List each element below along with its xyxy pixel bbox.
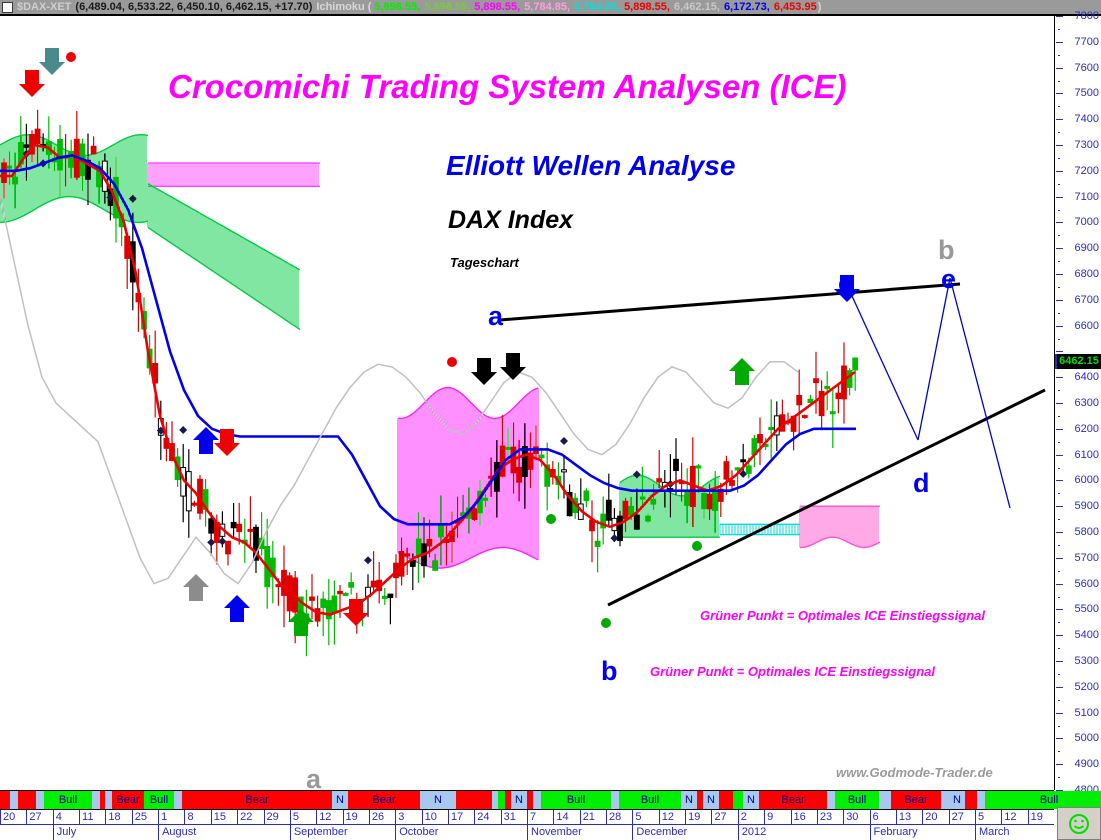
price-tick-label-6200: 6200 [1055, 423, 1101, 435]
candle-body [640, 497, 645, 499]
smiley-face-icon[interactable] [1057, 807, 1101, 840]
date-tick-30: 30 [843, 810, 869, 824]
candle-body [539, 455, 544, 458]
candle-body [433, 561, 438, 571]
trend-segment-neutral[interactable] [977, 791, 985, 809]
indicator-value-6: 6,462.15, [674, 1, 723, 13]
candle-body [35, 129, 40, 143]
signal-buy-dot-14 [692, 541, 702, 551]
date-tick-11: 11 [79, 810, 105, 824]
wave-label-b-2: b [601, 656, 618, 687]
date-tick-17: 17 [448, 810, 474, 824]
price-minor-tick [1058, 597, 1060, 598]
price-tick-label-5600: 5600 [1055, 578, 1101, 590]
candle-body [427, 539, 432, 545]
trend-segment-neutral[interactable] [174, 791, 182, 809]
date-tick-1: 1 [158, 810, 184, 824]
trend-segment-neutral[interactable] [879, 791, 891, 809]
date-tick-20: 20 [922, 810, 948, 824]
candle-body [595, 541, 600, 546]
price-tick-label-7700: 7700 [1055, 36, 1101, 48]
wave-label-d-5: d [913, 468, 930, 499]
subtitle-index: DAX Index [448, 206, 573, 235]
price-minor-tick [1058, 674, 1060, 675]
candle-body [2, 163, 7, 183]
date-tick-19: 19 [685, 810, 711, 824]
trend-segment-neutral[interactable] [533, 791, 541, 809]
date-tick-10: 10 [422, 810, 448, 824]
candle-body [506, 448, 511, 450]
date-tick-27: 27 [949, 810, 975, 824]
candle-body [802, 416, 807, 418]
symbol-label: $DAX-XET [17, 1, 71, 13]
month-label-March: March [975, 825, 1054, 840]
candle-body [797, 395, 802, 404]
wave-label-a-0: a [488, 301, 503, 332]
price-tick-label-6000: 6000 [1055, 474, 1101, 486]
date-tick-5: 5 [290, 810, 316, 824]
candle-body [343, 593, 348, 595]
price-minor-tick [1058, 261, 1060, 262]
signal-sell-arrow-0 [19, 70, 45, 97]
candle-body [853, 358, 858, 370]
candle-body [730, 481, 735, 486]
candle-body [808, 399, 813, 402]
date-tick-29: 29 [264, 810, 290, 824]
candle-body [282, 570, 287, 595]
paren-close: ) [818, 1, 822, 13]
candle-body [746, 466, 751, 473]
price-tick-label-6700: 6700 [1055, 294, 1101, 306]
price-chart-canvas[interactable]: Crocomichi Trading System Analysen (ICE)… [0, 16, 1055, 790]
candle-body [646, 516, 651, 521]
price-minor-tick [1058, 184, 1060, 185]
trend-segment-bull[interactable]: Bull [44, 791, 92, 809]
trend-segment-bull[interactable]: Bull [835, 791, 879, 809]
indicator-value-5: 5,898.55, [624, 1, 673, 13]
date-tick-15: 15 [211, 810, 237, 824]
candle-body [405, 554, 410, 556]
price-tick-label-4900: 4900 [1055, 758, 1101, 770]
paren-open: ( [368, 1, 372, 13]
indicator-value-0: 5,898.55, [374, 1, 423, 13]
candle-body [186, 472, 191, 511]
date-tick-18: 18 [105, 810, 131, 824]
month-label-November: November [527, 825, 632, 840]
current-price-marker: 6462.15 [1055, 354, 1101, 369]
candle-body [618, 516, 623, 540]
price-minor-tick [1058, 55, 1060, 56]
month-label-2012: 2012 [738, 825, 870, 840]
signal-buy-arrow-5 [183, 574, 209, 601]
trend-segment-bear[interactable]: Bear [759, 791, 827, 809]
candle-body [321, 599, 326, 607]
date-tick-12: 12 [316, 810, 342, 824]
candle-body [13, 177, 18, 184]
candle-body [338, 591, 343, 593]
indicator-value-8: 6,453.95 [774, 1, 817, 13]
price-tick-label-7200: 7200 [1055, 165, 1101, 177]
watermark: www.Godmode-Trader.de [836, 765, 993, 780]
price-tick-label-5700: 5700 [1055, 552, 1101, 564]
price-tick-label-7500: 7500 [1055, 87, 1101, 99]
candle-body [209, 519, 214, 533]
candle-body [248, 529, 253, 531]
date-tick-21: 21 [580, 810, 606, 824]
candle-body [522, 446, 527, 476]
trend-segment-neutral[interactable]: N [332, 791, 348, 809]
indicator-value-2: 5,898.55, [474, 1, 523, 13]
candle-body [472, 509, 477, 520]
price-tick-label-5900: 5900 [1055, 500, 1101, 512]
date-tick-12: 12 [1001, 810, 1027, 824]
date-tick-2: 2 [738, 810, 764, 824]
date-tick-22: 22 [237, 810, 263, 824]
date-tick-4: 4 [53, 810, 79, 824]
signal-buy-arrow-7 [288, 609, 314, 636]
date-tick-25: 25 [132, 810, 158, 824]
candle-body [416, 539, 421, 556]
date-axis[interactable]: 2027411182518152229512192631017243171421… [0, 810, 1054, 840]
price-axis[interactable]: 7800770076007500740073007200710070006900… [1055, 16, 1101, 790]
price-minor-tick [1058, 442, 1060, 443]
trend-segment-neutral[interactable]: N [703, 791, 719, 809]
price-tick-label-6800: 6800 [1055, 268, 1101, 280]
date-tick-8: 8 [184, 810, 210, 824]
page-title: Crocomichi Trading System Analysen (ICE) [168, 68, 847, 106]
candle-body [192, 503, 197, 505]
candle-body [69, 151, 74, 167]
price-minor-tick [1058, 416, 1060, 417]
trend-segment-bear[interactable] [719, 791, 733, 809]
price-minor-tick [1058, 622, 1060, 623]
price-minor-tick [1058, 339, 1060, 340]
month-label-August: August [158, 825, 290, 840]
indicator-value-4: 5,784.85, [574, 1, 623, 13]
wave-label-a-1: a [306, 764, 321, 790]
candle-body [836, 393, 841, 399]
projection-d-to-e [918, 278, 950, 440]
candle-body [814, 379, 819, 383]
quote-header-bar[interactable]: $DAX-XET (6,489.04, 6,533.22, 6,450.10, … [0, 0, 1101, 14]
candle-body [58, 140, 63, 170]
trend-segment-bear[interactable] [18, 791, 36, 809]
price-minor-tick [1058, 390, 1060, 391]
candle-body [349, 583, 354, 588]
candle-body [674, 459, 679, 470]
trend-segment-neutral[interactable]: N [949, 791, 965, 809]
date-tick-31: 31 [501, 810, 527, 824]
date-tick-20: 20 [0, 810, 26, 824]
candle-body [91, 146, 96, 154]
trend-segment-bear[interactable]: Bear [182, 791, 332, 809]
price-tick-label-5500: 5500 [1055, 603, 1101, 615]
price-minor-tick [1058, 700, 1060, 701]
month-label-October: October [395, 825, 527, 840]
candle-body [483, 498, 488, 500]
subtitle-analysis: Elliott Wellen Analyse [446, 150, 735, 182]
signal-sell-arrow-4 [214, 429, 240, 456]
trend-segment-bear[interactable] [0, 791, 10, 809]
ohlc-values: (6,489.04, 6,533.22, 6,450.10, 6,462.15,… [75, 1, 312, 13]
candle-body [769, 428, 774, 430]
price-minor-tick [1058, 545, 1060, 546]
signal-sell-dot-9 [447, 357, 457, 367]
signal-sell-arrow-8 [343, 599, 369, 626]
price-tick-label-5200: 5200 [1055, 681, 1101, 693]
price-tick-label-6300: 6300 [1055, 397, 1101, 409]
indicator-value-1: 5,898.55, [424, 1, 473, 13]
price-minor-tick [1058, 751, 1060, 752]
price-minor-tick [1058, 519, 1060, 520]
candle-body [326, 601, 331, 619]
date-tick-24: 24 [474, 810, 500, 824]
date-tick-5: 5 [632, 810, 658, 824]
wave-label-c-4: c [838, 268, 853, 299]
price-minor-tick [1058, 648, 1060, 649]
trend-segment-neutral[interactable]: N [511, 791, 527, 809]
signal-buy-dot-15 [601, 618, 611, 628]
trend-segment-bull[interactable] [733, 791, 743, 809]
candle-body [24, 145, 29, 147]
trend-segment-neutral[interactable] [105, 791, 112, 809]
price-minor-tick [1058, 493, 1060, 494]
trend-segment-bear[interactable]: Bear [891, 791, 941, 809]
price-tick-label-7600: 7600 [1055, 62, 1101, 74]
price-tick-label-6900: 6900 [1055, 242, 1101, 254]
diamond-marker [560, 437, 568, 445]
subtitle-timeframe: Tageschart [450, 255, 519, 270]
price-tick-label-7000: 7000 [1055, 216, 1101, 228]
indicator-value-7: 6,172.73, [724, 1, 773, 13]
date-tick-27: 27 [711, 810, 737, 824]
price-minor-tick [1058, 571, 1060, 572]
indicator-value-3: 5,784.85, [524, 1, 573, 13]
price-minor-tick [1058, 106, 1060, 107]
trend-segment-bull[interactable]: Bull [144, 791, 174, 809]
trend-segment-bull[interactable] [498, 791, 505, 809]
price-tick-label-6600: 6600 [1055, 320, 1101, 332]
candle-body [634, 515, 639, 529]
diamond-marker [179, 426, 187, 434]
chart-application: $DAX-XET (6,489.04, 6,533.22, 6,450.10, … [0, 0, 1101, 840]
price-minor-tick [1058, 726, 1060, 727]
candle-body [713, 491, 718, 511]
trend-segment-bull[interactable]: Bull [619, 791, 681, 809]
candle-body [685, 492, 690, 505]
date-tick-6: 6 [870, 810, 896, 824]
candle-body [382, 596, 387, 598]
candle-body [606, 500, 611, 520]
signal-sell-arrow-1 [39, 48, 65, 75]
price-minor-tick [1058, 468, 1060, 469]
price-minor-tick [1058, 29, 1060, 30]
date-tick-3: 3 [395, 810, 421, 824]
price-tick-label-7100: 7100 [1055, 191, 1101, 203]
candle-body [702, 493, 707, 508]
signal-sell-arrow-11 [500, 353, 526, 380]
trend-segment-neutral[interactable] [611, 791, 619, 809]
month-label-July: July [53, 825, 158, 840]
price-minor-tick [1058, 132, 1060, 133]
candle-body [741, 460, 746, 462]
wave-label-e-6: e [941, 264, 956, 295]
trend-segment-neutral[interactable] [827, 791, 835, 809]
annotation-note-1: Grüner Punkt = Optimales ICE Einstiegssi… [700, 608, 985, 623]
date-tick-19: 19 [343, 810, 369, 824]
candle-body [657, 479, 662, 482]
date-tick-19: 19 [1028, 810, 1054, 824]
trend-segment-neutral[interactable] [36, 791, 44, 809]
month-label-December: December [632, 825, 737, 840]
signal-sell-dot-2 [66, 52, 76, 62]
candle-body [623, 501, 628, 519]
date-tick-7: 7 [527, 810, 553, 824]
candle-body [517, 467, 522, 482]
candle-body [237, 524, 242, 531]
date-tick-23: 23 [817, 810, 843, 824]
date-tick-9: 9 [764, 810, 790, 824]
trend-segment-bear[interactable] [456, 791, 492, 809]
price-tick-label-5400: 5400 [1055, 629, 1101, 641]
candle-body [438, 526, 443, 537]
candle-body [332, 596, 337, 613]
trend-status-strip[interactable]: BullBearBullBearNBearNNBullBullNNNBearBu… [0, 790, 1054, 810]
date-tick-28: 28 [606, 810, 632, 824]
price-tick-label-7300: 7300 [1055, 139, 1101, 151]
month-label-February: February [870, 825, 975, 840]
candle-body [231, 522, 236, 527]
candle-body [388, 594, 393, 597]
candle-body [7, 166, 12, 168]
candle-body [825, 386, 830, 388]
trend-segment-bear[interactable]: Bear [112, 791, 144, 809]
candle-body [707, 494, 712, 508]
price-tick-label-5300: 5300 [1055, 655, 1101, 667]
date-tick-27: 27 [26, 810, 52, 824]
trendline-upper-resistance [500, 284, 960, 320]
signal-buy-arrow-6 [224, 595, 250, 622]
projection-c-to-d [852, 296, 918, 440]
trend-segment-neutral[interactable]: N [420, 791, 456, 809]
projection-e-down [950, 278, 1010, 508]
date-tick-16: 16 [791, 810, 817, 824]
candle-body [830, 412, 835, 414]
trend-segment-neutral[interactable] [941, 791, 949, 809]
trend-segment-bear[interactable]: Bear [348, 791, 420, 809]
price-tick-label-6400: 6400 [1055, 371, 1101, 383]
checkbox-unchecked-icon[interactable] [2, 2, 13, 13]
signal-buy-dot-12 [546, 514, 556, 524]
date-tick-5: 5 [975, 810, 1001, 824]
indicator-label: Ichimoku [316, 1, 364, 13]
trend-segment-bull[interactable]: Bull [541, 791, 611, 809]
date-tick-14: 14 [553, 810, 579, 824]
price-minor-tick [1058, 210, 1060, 211]
price-tick-label-7800: 7800 [1055, 10, 1101, 22]
price-minor-tick [1058, 777, 1060, 778]
price-minor-tick [1058, 313, 1060, 314]
date-tick-12: 12 [659, 810, 685, 824]
candle-body [696, 466, 701, 468]
trend-segment-neutral[interactable]: N [681, 791, 697, 809]
candle-body [584, 491, 589, 501]
price-tick-label-5100: 5100 [1055, 707, 1101, 719]
candle-body [735, 468, 740, 470]
price-minor-tick [1058, 235, 1060, 236]
candle-body [310, 597, 315, 600]
candle-body [399, 552, 404, 577]
signal-sell-arrow-10 [471, 358, 497, 385]
price-tick-mark [1056, 351, 1063, 352]
trend-segment-neutral[interactable] [10, 791, 18, 809]
candle-body [562, 470, 567, 472]
price-tick-label-5000: 5000 [1055, 732, 1101, 744]
trendline-group [500, 284, 1045, 605]
annotation-note-2: Grüner Punkt = Optimales ICE Einstiegssi… [650, 664, 935, 679]
diamond-marker [364, 556, 372, 564]
candle-body [724, 462, 729, 479]
price-minor-tick [1058, 158, 1060, 159]
candle-body [758, 435, 763, 443]
date-tick-26: 26 [369, 810, 395, 824]
candle-body [226, 541, 231, 554]
indicator-values: 5,898.55, 5,898.55, 5,898.55, 5,784.85, … [374, 1, 817, 13]
price-tick-label-6100: 6100 [1055, 449, 1101, 461]
price-tick-label-7400: 7400 [1055, 113, 1101, 125]
trend-segment-neutral[interactable] [92, 791, 100, 809]
month-label-September: September [290, 825, 395, 840]
price-minor-tick [1058, 287, 1060, 288]
price-minor-tick [1058, 81, 1060, 82]
date-tick-13: 13 [896, 810, 922, 824]
trend-segment-neutral[interactable]: N [743, 791, 759, 809]
signal-buy-arrow-13 [729, 358, 755, 385]
price-tick-label-5800: 5800 [1055, 526, 1101, 538]
candle-body [371, 581, 376, 587]
wave-label-b-3: b [938, 235, 955, 266]
candle-body [651, 499, 656, 504]
